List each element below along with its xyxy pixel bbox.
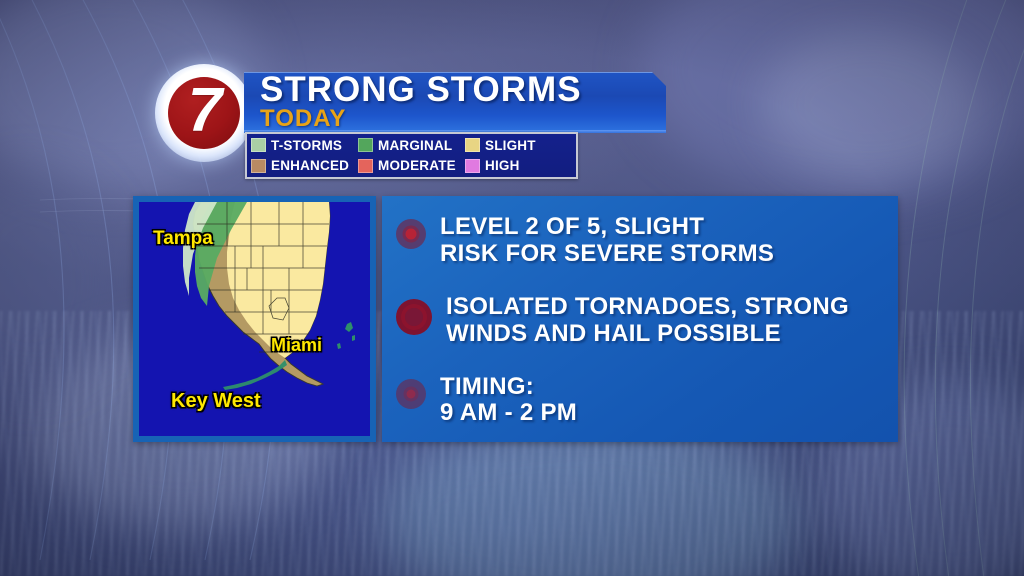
storm-dot-icon [396,299,432,335]
bullet-line: RISK FOR SEVERE STORMS [440,241,774,268]
logo-number: 7 [168,77,240,149]
legend-item-moderate: MODERATE [358,158,465,173]
bullet-line: 9 AM - 2 PM [440,400,577,427]
graphic-header: 7 STRONG STORMS TODAY T-STORMS MARGINAL … [0,0,1024,190]
bullet-line: WINDS AND HAIL POSSIBLE [446,321,849,348]
bullet-timing-text: TIMING: 9 AM - 2 PM [440,374,577,428]
page-title: STRONG STORMS [260,70,582,110]
legend-item-marginal: MARGINAL [358,138,465,153]
risk-map-panel: Tampa Miami Key West [133,196,376,442]
map-label-miami: Miami [271,335,322,356]
legend-swatch-slight [465,138,480,152]
bullet-timing: TIMING: 9 AM - 2 PM [382,374,898,428]
bullet-hazards: ISOLATED TORNADOES, STRONG WINDS AND HAI… [382,294,898,348]
bullet-risk-level-text: LEVEL 2 OF 5, SLIGHT RISK FOR SEVERE STO… [440,214,774,268]
bullet-line: TIMING: [440,374,577,401]
bullet-line: ISOLATED TORNADOES, STRONG [446,294,849,321]
legend-item-t-storms: T-STORMS [251,138,358,153]
legend-label-marginal: MARGINAL [378,138,452,153]
map-label-tampa: Tampa [153,228,213,250]
legend-swatch-enhanced [251,159,266,173]
storm-dot-icon [396,219,426,249]
legend-item-slight: SLIGHT [465,138,572,153]
legend-swatch-marginal [358,138,373,152]
storm-dot-icon [396,379,426,409]
details-bullet-list: LEVEL 2 OF 5, SLIGHT RISK FOR SEVERE STO… [382,214,898,427]
station-logo: 7 [155,64,253,162]
bullet-risk-level: LEVEL 2 OF 5, SLIGHT RISK FOR SEVERE STO… [382,214,898,268]
legend-label-enhanced: ENHANCED [271,158,349,173]
legend-label-slight: SLIGHT [485,138,536,153]
title-subtitle: TODAY [260,105,346,133]
logo-disc: 7 [168,77,240,149]
legend-grid: T-STORMS MARGINAL SLIGHT ENHANCED MODERA… [247,134,576,177]
legend-swatch-moderate [358,159,373,173]
legend-swatch-t-storms [251,138,266,152]
details-panel: LEVEL 2 OF 5, SLIGHT RISK FOR SEVERE STO… [382,196,898,442]
bullet-hazards-text: ISOLATED TORNADOES, STRONG WINDS AND HAI… [446,294,849,348]
title-banner: STRONG STORMS TODAY [244,72,666,133]
legend-label-t-storms: T-STORMS [271,138,342,153]
risk-map: Tampa Miami Key West [139,202,370,436]
bullet-line: LEVEL 2 OF 5, SLIGHT [440,214,774,241]
legend-label-moderate: MODERATE [378,158,456,173]
map-label-key-west: Key West [171,390,261,413]
legend-swatch-high [465,159,480,173]
legend-item-high: HIGH [465,158,572,173]
legend-label-high: HIGH [485,158,520,173]
risk-legend: T-STORMS MARGINAL SLIGHT ENHANCED MODERA… [245,132,578,179]
legend-item-enhanced: ENHANCED [251,158,358,173]
